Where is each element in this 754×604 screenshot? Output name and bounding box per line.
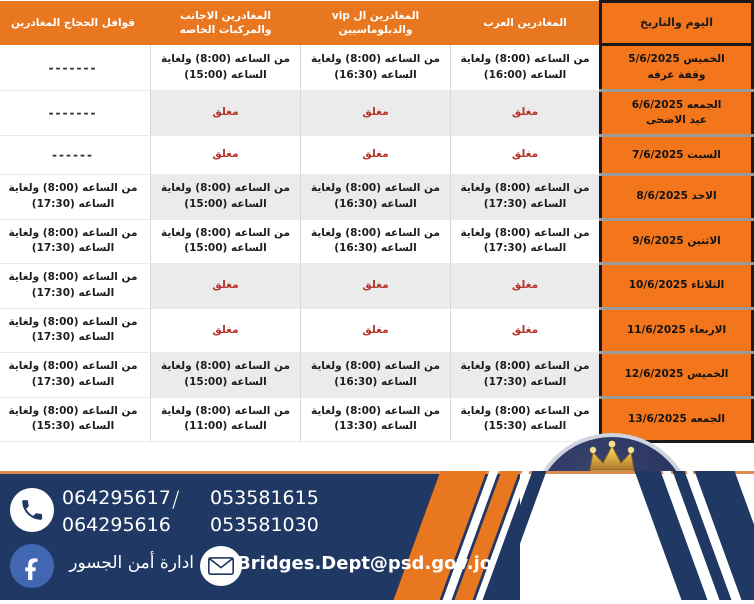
cell-date: الخميس 5/6/2025وقفة عرفه — [601, 45, 753, 90]
schedule-table-container: اليوم والتاريخ المغادرين العرب المغادرين… — [0, 0, 754, 443]
date-primary: الاحد 8/6/2025 — [636, 190, 716, 202]
date-primary: الخميس 5/6/2025 — [628, 53, 724, 65]
cell-hajj: من الساعه (8:00) ولغاية الساعه (17:30) — [0, 308, 151, 353]
envelope-icon — [200, 546, 242, 586]
cell-foreign: من الساعه (8:00) ولغاية الساعه (15:00) — [151, 353, 301, 398]
contact-info-area: 064295617 064295616 / 053581615 05358103… — [0, 471, 520, 600]
cell-vip: من الساعه (8:00) ولغاية الساعه (16:30) — [301, 219, 451, 264]
email-address[interactable]: Bridges.Dept@psd.gov.jo — [237, 553, 492, 574]
date-occasion: عيد الاضحى — [608, 113, 745, 128]
table-row: الثلاثاء 10/6/2025مغلقمغلقمغلقمن الساعه … — [0, 264, 753, 309]
departures-schedule-table: اليوم والتاريخ المغادرين العرب المغادرين… — [0, 0, 754, 443]
cell-hajj: ------- — [0, 45, 151, 90]
cell-arab: من الساعه (8:00) ولغاية الساعه (17:30) — [451, 353, 601, 398]
table-row: السبت 7/6/2025مغلقمغلقمغلق------ — [0, 136, 753, 175]
table-row: الخميس 5/6/2025وقفة عرفهمن الساعه (8:00)… — [0, 45, 753, 90]
cell-vip: من الساعه (8:00) ولغاية الساعه (16:30) — [301, 45, 451, 90]
cell-vip: مغلق — [301, 136, 451, 175]
cell-arab: من الساعه (8:00) ولغاية الساعه (16:00) — [451, 45, 601, 90]
table-row: الاثنين 9/6/2025من الساعه (8:00) ولغاية … — [0, 219, 753, 264]
cell-foreign: من الساعه (8:00) ولغاية الساعه (15:00) — [151, 175, 301, 220]
cell-arab: من الساعه (8:00) ولغاية الساعه (17:30) — [451, 175, 601, 220]
footer-banner: 064295617 064295616 / 053581615 05358103… — [0, 471, 754, 600]
cell-date: الثلاثاء 10/6/2025 — [601, 264, 753, 309]
phone-numbers-mobile: 053581615 053581030 — [210, 485, 319, 539]
date-primary: الاثنين 9/6/2025 — [632, 235, 721, 247]
cell-arab: مغلق — [451, 308, 601, 353]
column-header-date: اليوم والتاريخ — [601, 2, 753, 45]
table-header: اليوم والتاريخ المغادرين العرب المغادرين… — [0, 2, 753, 45]
table-row: الجمعه 6/6/2025عيد الاضحىمغلقمغلقمغلق---… — [0, 90, 753, 135]
cell-hajj: من الساعه (8:00) ولغاية الساعه (17:30) — [0, 219, 151, 264]
cell-foreign: مغلق — [151, 308, 301, 353]
cell-date: الاربعاء 11/6/2025 — [601, 308, 753, 353]
cell-arab: مغلق — [451, 264, 601, 309]
cell-vip: من الساعه (8:00) ولغاية الساعه (13:30) — [301, 397, 451, 442]
date-primary: الجمعه 13/6/2025 — [628, 413, 725, 425]
cell-foreign: من الساعه (8:00) ولغاية الساعه (11:00) — [151, 397, 301, 442]
cell-hajj: من الساعه (8:00) ولغاية الساعه (17:30) — [0, 264, 151, 309]
cell-date: الجمعه 6/6/2025عيد الاضحى — [601, 90, 753, 135]
phone-number-1[interactable]: 064295617 — [62, 485, 171, 512]
cell-foreign: من الساعه (8:00) ولغاية الساعه (15:00) — [151, 219, 301, 264]
cell-vip: مغلق — [301, 308, 451, 353]
table-body: الخميس 5/6/2025وقفة عرفهمن الساعه (8:00)… — [0, 45, 753, 442]
cell-foreign: من الساعه (8:00) ولغاية الساعه (15:00) — [151, 45, 301, 90]
cell-vip: من الساعه (8:00) ولغاية الساعه (16:30) — [301, 353, 451, 398]
phone-numbers-local: 064295617 064295616 — [62, 485, 171, 539]
cell-vip: من الساعه (8:00) ولغاية الساعه (16:30) — [301, 175, 451, 220]
date-occasion: وقفة عرفه — [608, 68, 745, 83]
table-row: الخميس 12/6/2025من الساعه (8:00) ولغاية … — [0, 353, 753, 398]
table-header-row: اليوم والتاريخ المغادرين العرب المغادرين… — [0, 2, 753, 45]
table-row: الاربعاء 11/6/2025مغلقمغلقمغلقمن الساعه … — [0, 308, 753, 353]
cell-vip: مغلق — [301, 90, 451, 135]
date-primary: الاربعاء 11/6/2025 — [627, 324, 726, 336]
cell-arab: مغلق — [451, 136, 601, 175]
cell-hajj: ------- — [0, 90, 151, 135]
date-primary: الثلاثاء 10/6/2025 — [629, 279, 725, 291]
cell-date: الخميس 12/6/2025 — [601, 353, 753, 398]
cell-hajj: من الساعه (8:00) ولغاية الساعه (17:30) — [0, 175, 151, 220]
cell-date: الاثنين 9/6/2025 — [601, 219, 753, 264]
phone-number-3[interactable]: 053581615 — [210, 485, 319, 512]
date-primary: السبت 7/6/2025 — [632, 149, 721, 161]
column-header-hajj: قوافل الحجاج المغادرين — [0, 2, 151, 45]
column-header-arab: المغادرين العرب — [451, 2, 601, 45]
cell-arab: مغلق — [451, 90, 601, 135]
facebook-icon[interactable] — [10, 544, 54, 588]
phone-number-2[interactable]: 064295616 — [62, 512, 171, 539]
phone-icon — [10, 488, 54, 532]
cell-vip: مغلق — [301, 264, 451, 309]
column-header-foreign: المغادرين الاجانب والمركبات الخاصه — [151, 2, 301, 45]
date-primary: الخميس 12/6/2025 — [625, 368, 729, 380]
table-row: الاحد 8/6/2025من الساعه (8:00) ولغاية ال… — [0, 175, 753, 220]
cell-foreign: مغلق — [151, 136, 301, 175]
cell-hajj: ------ — [0, 136, 151, 175]
cell-foreign: مغلق — [151, 90, 301, 135]
phone-separator: / — [172, 485, 179, 516]
date-primary: الجمعه 6/6/2025 — [632, 99, 722, 111]
phone-number-4[interactable]: 053581030 — [210, 512, 319, 539]
cell-hajj: من الساعه (8:00) ولغاية الساعه (15:30) — [0, 397, 151, 442]
cell-hajj: من الساعه (8:00) ولغاية الساعه (17:30) — [0, 353, 151, 398]
facebook-page-label[interactable]: ادارة أمن الجسور — [62, 553, 194, 573]
cell-foreign: مغلق — [151, 264, 301, 309]
column-header-vip: المغادرين ال vip والدبلوماسيين — [301, 2, 451, 45]
cell-arab: من الساعه (8:00) ولغاية الساعه (17:30) — [451, 219, 601, 264]
cell-date: السبت 7/6/2025 — [601, 136, 753, 175]
cell-date: الاحد 8/6/2025 — [601, 175, 753, 220]
